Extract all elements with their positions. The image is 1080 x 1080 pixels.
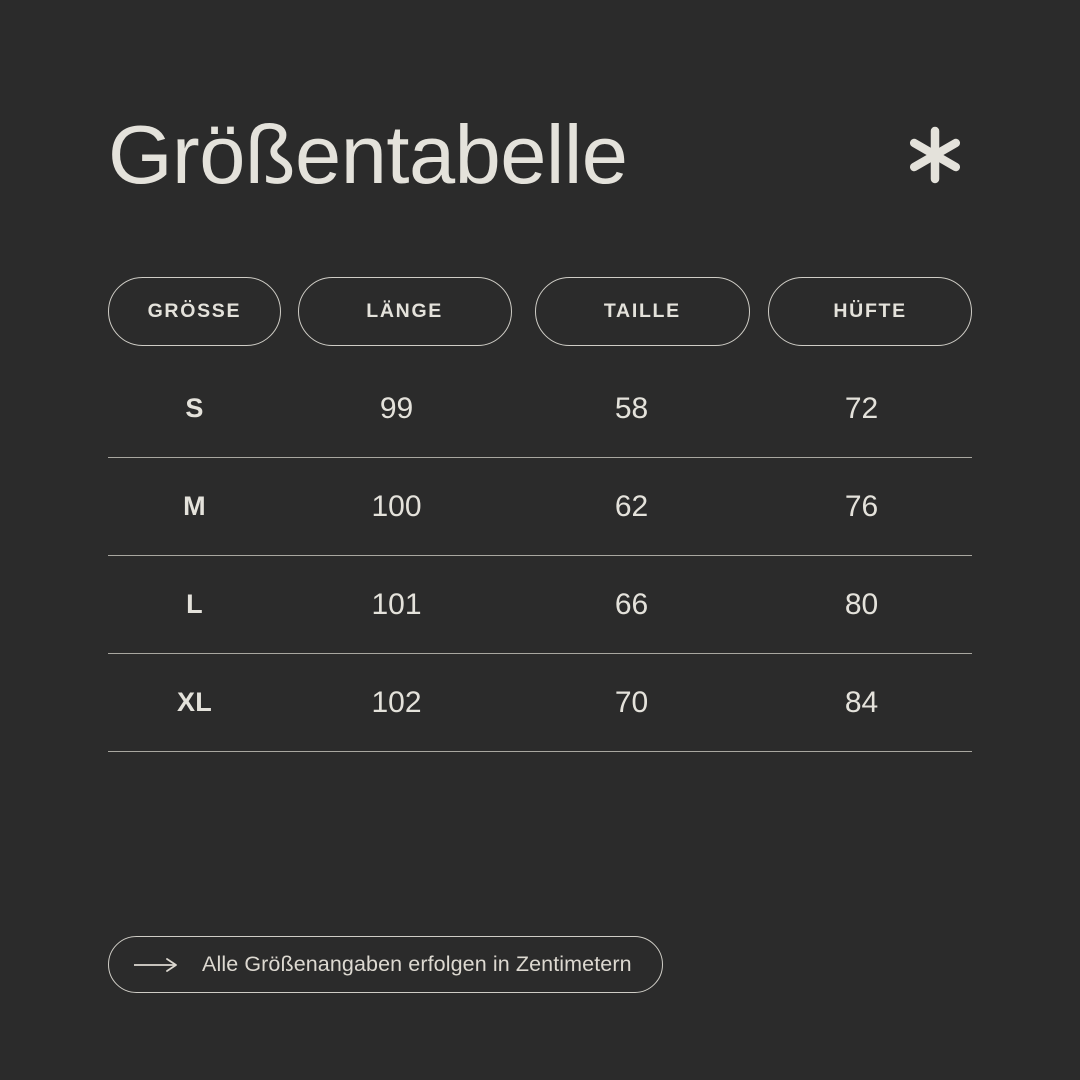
cell-huefte: 72 [751, 392, 972, 426]
cell-size: S [108, 393, 281, 424]
table-row: XL 102 70 84 [108, 654, 972, 752]
table-row: S 99 58 72 [108, 360, 972, 458]
cell-taille: 58 [512, 392, 751, 426]
cell-huefte: 80 [751, 588, 972, 622]
column-header-row: GRÖSSE LÄNGE TAILLE HÜFTE [108, 277, 972, 346]
footer-note-text: Alle Größenangaben erfolgen in Zentimete… [202, 952, 632, 977]
column-header-groesse[interactable]: GRÖSSE [108, 277, 281, 346]
asterisk-icon [904, 124, 972, 186]
column-header-taille[interactable]: TAILLE [535, 277, 751, 346]
size-chart-canvas: Größentabelle GRÖSSE LÄNGE TAILLE HÜFTE [0, 0, 1080, 1080]
size-table: S 99 58 72 M 100 62 76 L 101 66 80 XL 10… [108, 360, 972, 752]
cell-taille: 70 [512, 686, 751, 720]
cell-laenge: 101 [281, 588, 512, 622]
cell-huefte: 84 [751, 686, 972, 720]
column-header-laenge[interactable]: LÄNGE [298, 277, 512, 346]
cell-laenge: 100 [281, 490, 512, 524]
column-header-taille-label: TAILLE [604, 300, 681, 323]
column-header-huefte-label: HÜFTE [833, 300, 907, 323]
column-header-groesse-label: GRÖSSE [148, 300, 242, 323]
table-row: M 100 62 76 [108, 458, 972, 556]
footer-note[interactable]: Alle Größenangaben erfolgen in Zentimete… [108, 936, 663, 993]
page-title: Größentabelle [108, 111, 627, 198]
cell-size: L [108, 589, 281, 620]
table-row: L 101 66 80 [108, 556, 972, 654]
cell-taille: 62 [512, 490, 751, 524]
header: Größentabelle [108, 100, 972, 210]
column-header-huefte[interactable]: HÜFTE [768, 277, 972, 346]
cell-size: M [108, 491, 281, 522]
cell-laenge: 99 [281, 392, 512, 426]
column-header-laenge-label: LÄNGE [366, 300, 443, 323]
cell-laenge: 102 [281, 686, 512, 720]
cell-taille: 66 [512, 588, 751, 622]
cell-huefte: 76 [751, 490, 972, 524]
cell-size: XL [108, 687, 281, 718]
arrow-right-icon [133, 957, 179, 973]
